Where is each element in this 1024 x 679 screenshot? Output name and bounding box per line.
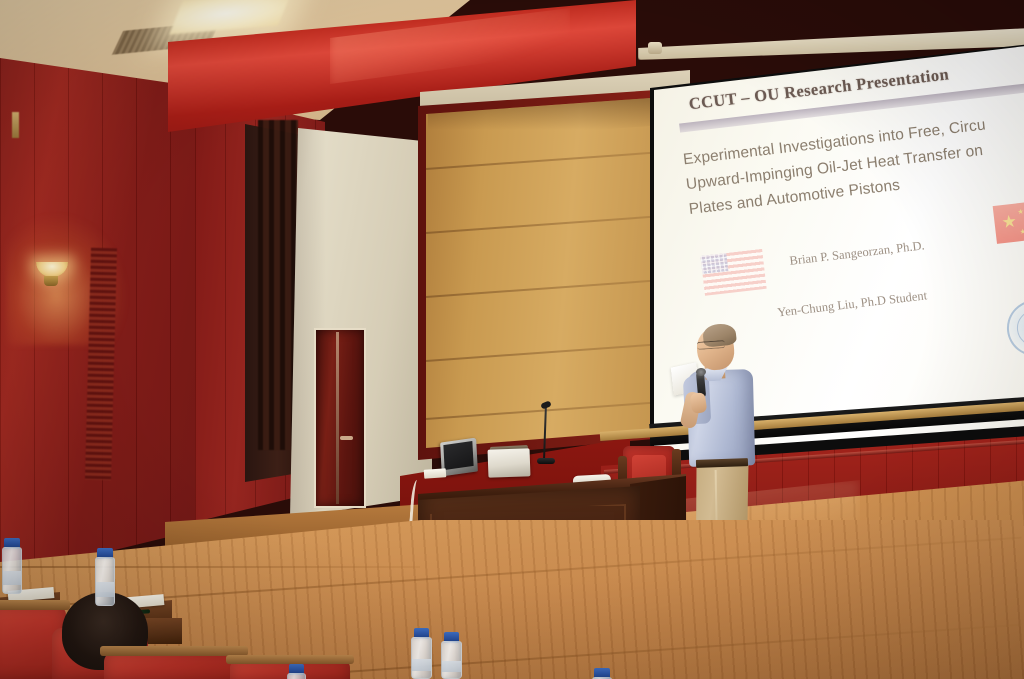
bottle-label — [96, 582, 114, 596]
presentation-photo: CCUT – OU Research Presentation Experime… — [0, 0, 1024, 679]
audience-seat[interactable] — [104, 652, 244, 679]
bottle-body — [95, 557, 115, 606]
audience-seat-wood-trim — [0, 600, 70, 610]
water-bottle[interactable] — [441, 632, 462, 679]
audience-seat-wood-trim — [100, 646, 248, 656]
us-flag-canton — [700, 253, 728, 274]
dark-stage-curtain — [258, 120, 298, 450]
bottle-body — [441, 641, 462, 679]
audience-seat-wood-trim — [226, 655, 354, 664]
water-bottle[interactable] — [287, 664, 306, 679]
water-bottle[interactable] — [411, 628, 432, 679]
bottle-body — [287, 673, 306, 679]
bottle-body — [411, 637, 432, 679]
bottle-label — [3, 571, 21, 585]
laptop-screen — [443, 441, 473, 470]
china-flag-icon: ★ ★ ★ ★ ★ — [993, 200, 1024, 244]
slide-author-primary: Brian P. Sangeorzan, Ph.D. — [789, 238, 926, 269]
screen-roller-end-cap — [648, 42, 662, 54]
water-bottle[interactable] — [2, 538, 22, 594]
stage-side-door[interactable] — [314, 328, 366, 508]
water-bottle[interactable] — [592, 668, 612, 679]
bottle-label — [412, 659, 431, 671]
door-mullion — [336, 332, 339, 504]
water-bottle[interactable] — [95, 548, 115, 606]
china-flag-star-small: ★ — [1019, 226, 1024, 238]
bottle-label — [442, 661, 461, 672]
slide-author-secondary: Yen-Chung Liu, Ph.D Student — [777, 288, 928, 320]
china-flag-star-large: ★ — [1001, 213, 1018, 232]
document-camera[interactable] — [488, 448, 531, 477]
floor-seam-line — [0, 566, 420, 568]
china-flag-star-small: ★ — [1017, 207, 1024, 219]
wall-sconce-base — [44, 276, 58, 286]
desk-paper — [424, 468, 447, 479]
gooseneck-microphone-base — [537, 458, 555, 464]
door-handle[interactable] — [340, 436, 353, 440]
wall-light-strip — [12, 112, 19, 138]
presenter-hand — [690, 392, 708, 414]
bottle-body — [2, 547, 22, 594]
acoustic-panel-wall — [426, 96, 678, 448]
